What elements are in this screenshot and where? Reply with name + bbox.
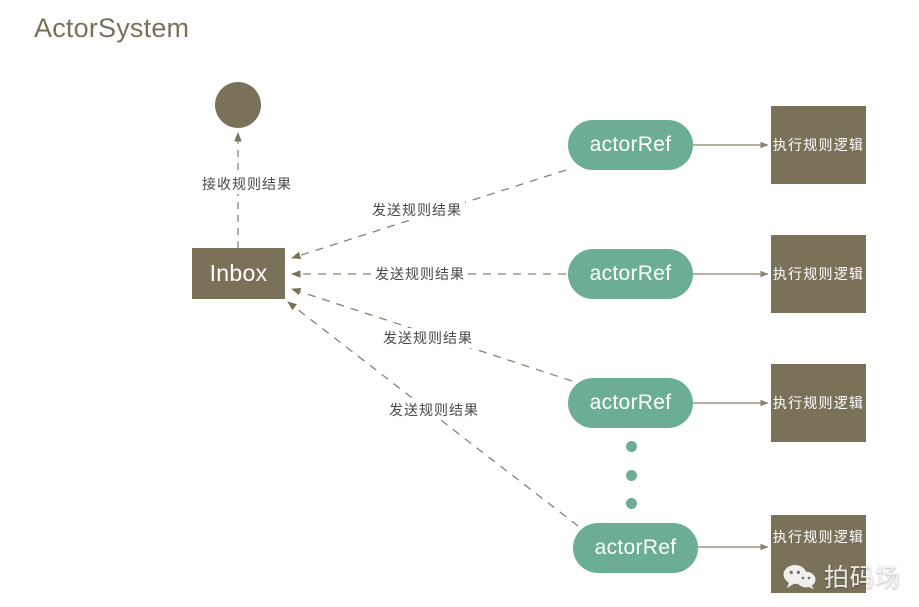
ellipsis-dot-2: [626, 470, 637, 481]
ellipsis-dot-3: [626, 498, 637, 509]
edge-label-send-3: 发送规则结果: [380, 328, 476, 348]
ellipsis-dot-1: [626, 441, 637, 452]
edge-label-send-4: 发送规则结果: [386, 400, 482, 420]
logic-box-1[interactable]: 执行规则逻辑: [771, 106, 866, 184]
actorref-node-4[interactable]: actorRef: [573, 523, 698, 573]
logic-box-3[interactable]: 执行规则逻辑: [771, 364, 866, 442]
watermark: 拍码场: [783, 558, 901, 594]
edge-label-receive: 接收规则结果: [199, 174, 295, 194]
actorref-node-3[interactable]: actorRef: [568, 378, 693, 428]
logic-box-2[interactable]: 执行规则逻辑: [771, 235, 866, 313]
inbox-node[interactable]: Inbox: [192, 248, 285, 299]
actorref-node-2[interactable]: actorRef: [568, 249, 693, 299]
page-title: ActorSystem: [34, 13, 189, 44]
wechat-icon: [783, 563, 817, 590]
diagram-canvas: ActorSystem Inbox actorRef actorRef: [0, 0, 919, 607]
edge-label-send-1: 发送规则结果: [369, 200, 465, 220]
watermark-text: 拍码场: [824, 558, 901, 594]
root-actor-circle[interactable]: [215, 82, 261, 128]
actorref-node-1[interactable]: actorRef: [568, 120, 693, 170]
edge-label-send-2: 发送规则结果: [372, 264, 468, 284]
